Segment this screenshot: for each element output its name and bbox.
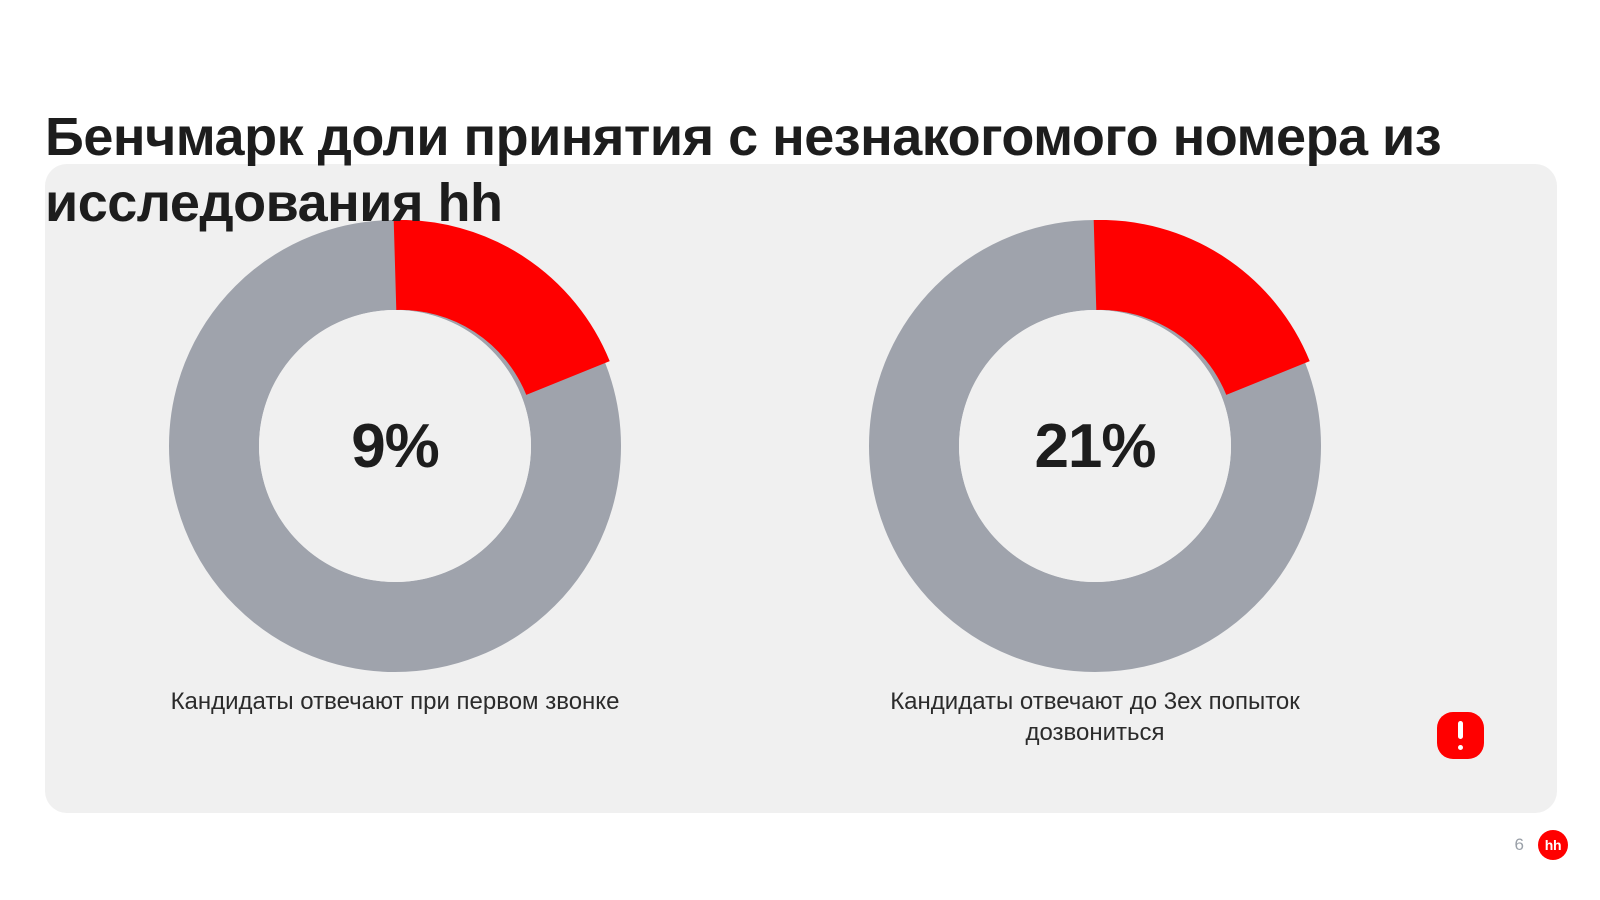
page-number: 6 [1515, 835, 1524, 855]
donut-wrap-2: 21% [869, 220, 1321, 672]
slide-footer: 6 hh [1515, 830, 1568, 860]
donut-center-value-2: 21% [869, 220, 1321, 672]
hh-logo: hh [1538, 830, 1568, 860]
donut-chart-three-attempts: 21% Кандидаты отвечают до 3ех попыток до… [745, 220, 1445, 780]
page-title: Бенчмарк доли принятия с незнакогомого н… [45, 104, 1445, 236]
donut-chart-first-call: 9% Кандидаты отвечают при первом звонке [45, 220, 745, 780]
donut-center-value-1: 9% [169, 220, 621, 672]
charts-row: 9% Кандидаты отвечают при первом звонке … [45, 220, 1445, 780]
slide-root: Бенчмарк доли принятия с незнакогомого н… [0, 0, 1600, 900]
donut-caption-2: Кандидаты отвечают до 3ех попыток дозвон… [855, 686, 1335, 748]
exclamation-glyph [1458, 721, 1463, 751]
exclamation-icon[interactable] [1437, 712, 1484, 759]
donut-wrap-1: 9% [169, 220, 621, 672]
donut-caption-1: Кандидаты отвечают при первом звонке [155, 686, 635, 717]
